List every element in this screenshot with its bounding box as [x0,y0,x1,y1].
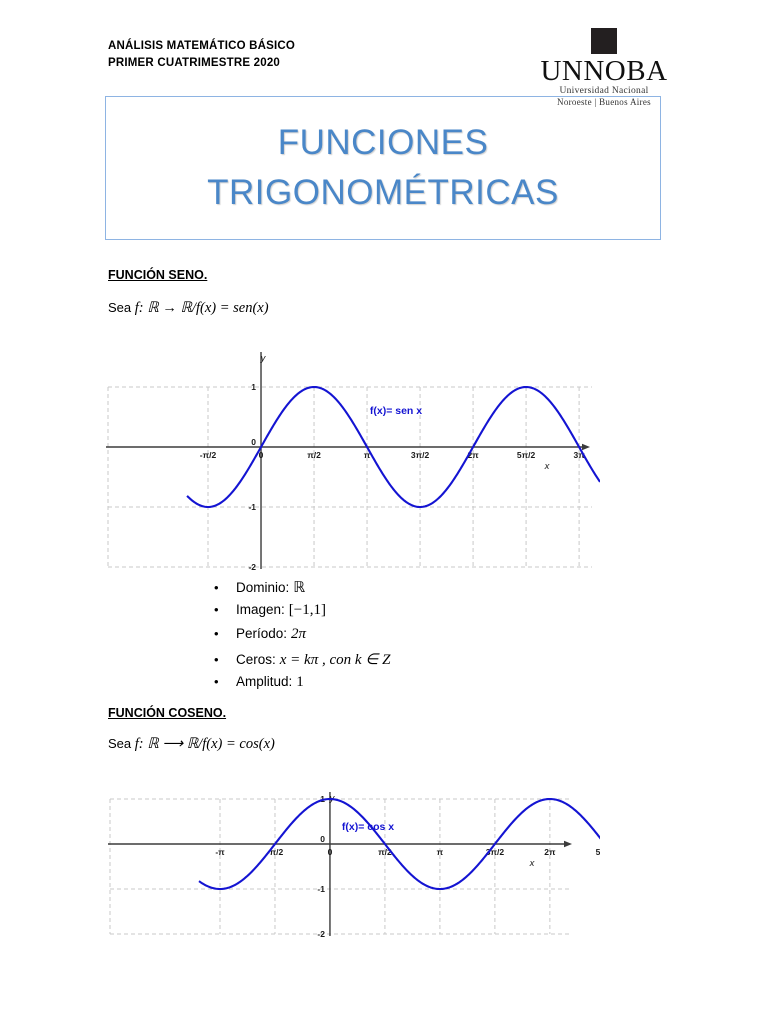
property-label: Período: [236,626,287,641]
x-axis-title: x [529,858,536,869]
definition-coseno-formula: f: ℝ ⟶ ℝ/f(x) = cos(x) [135,736,275,752]
chart-sine: -π/20π/2π3π/22π5π/23π10-1-2yxf(x)= sen x [100,340,600,580]
bullet-icon: • [214,652,236,667]
bullet-icon: • [214,580,236,595]
x-tick-label: 3π/2 [411,450,430,460]
title-line-2: TRIGONOMÉTRICAS [207,168,559,218]
definition-coseno: Sea f: ℝ ⟶ ℝ/f(x) = cos(x) [108,736,275,753]
bullet-icon: • [214,626,236,641]
x-tick-label: 5π/2 [517,450,536,460]
property-label: Imagen: [236,602,285,617]
property-value: x = kπ , con k ∈ Z [276,650,391,669]
property-label: Ceros: [236,652,276,667]
y-tick-label: -2 [248,562,256,572]
y-axis-title: y [260,353,267,364]
x-tick-label: π [437,847,444,857]
list-item: • Amplitud: 1 [214,674,634,698]
logo-wordmark: UNNOBA [540,56,668,86]
properties-list: • Dominio: ℝ • Imagen: [−1,1] • Período:… [214,578,634,698]
list-item: • Ceros: x = kπ , con k ∈ Z [214,650,634,674]
section-heading-coseno: FUNCIÓN COSENO. [108,706,226,720]
y-tick-label: 0 [320,834,325,844]
property-label: Amplitud: [236,674,292,689]
property-label: Dominio: [236,580,289,595]
x-tick-label: π/2 [307,450,321,460]
x-tick-label: 5π/2 [596,847,600,857]
definition-seno-formula: f: ℝ → ℝ/f(x) = sen(x) [135,300,269,316]
y-tick-label: -1 [248,502,256,512]
property-value: [−1,1] [285,602,326,619]
x-tick-label: 2π [544,847,556,857]
title-box: FUNCIONES TRIGONOMÉTRICAS [105,96,661,240]
x-tick-label: -π/2 [200,450,217,460]
property-value: 1 [292,674,304,691]
property-value: 2π [287,626,306,643]
list-item: • Imagen: [−1,1] [214,602,634,626]
x-tick-label: 0 [328,847,333,857]
x-axis-title: x [544,461,551,472]
y-tick-label: 0 [251,437,256,447]
document-header: ANÁLISIS MATEMÁTICO BÁSICO PRIMER CUATRI… [108,38,668,98]
list-item: • Período: 2π [214,626,634,650]
logo-square-icon [591,28,617,54]
function-label: f(x)= cos x [342,821,394,833]
x-axis-arrow-icon [564,841,572,847]
chart-cosine: -π-π/20π/2π3π/22π5π/23π10-1-2yxf(x)= cos… [100,778,600,948]
definition-seno-prefix: Sea [108,300,135,315]
list-item: • Dominio: ℝ [214,578,634,602]
title-line-1: FUNCIONES [278,118,489,168]
x-tick-label: -π [215,847,225,857]
function-label: f(x)= sen x [370,405,422,417]
y-tick-label: -2 [317,929,325,939]
section-heading-seno: FUNCIÓN SENO. [108,268,207,282]
definition-seno: Sea f: ℝ → ℝ/f(x) = sen(x) [108,300,269,317]
bullet-icon: • [214,674,236,689]
y-tick-label: 1 [251,382,256,392]
bullet-icon: • [214,602,236,617]
definition-coseno-prefix: Sea [108,736,135,751]
y-tick-label: -1 [317,884,325,894]
property-value: ℝ [289,578,305,597]
